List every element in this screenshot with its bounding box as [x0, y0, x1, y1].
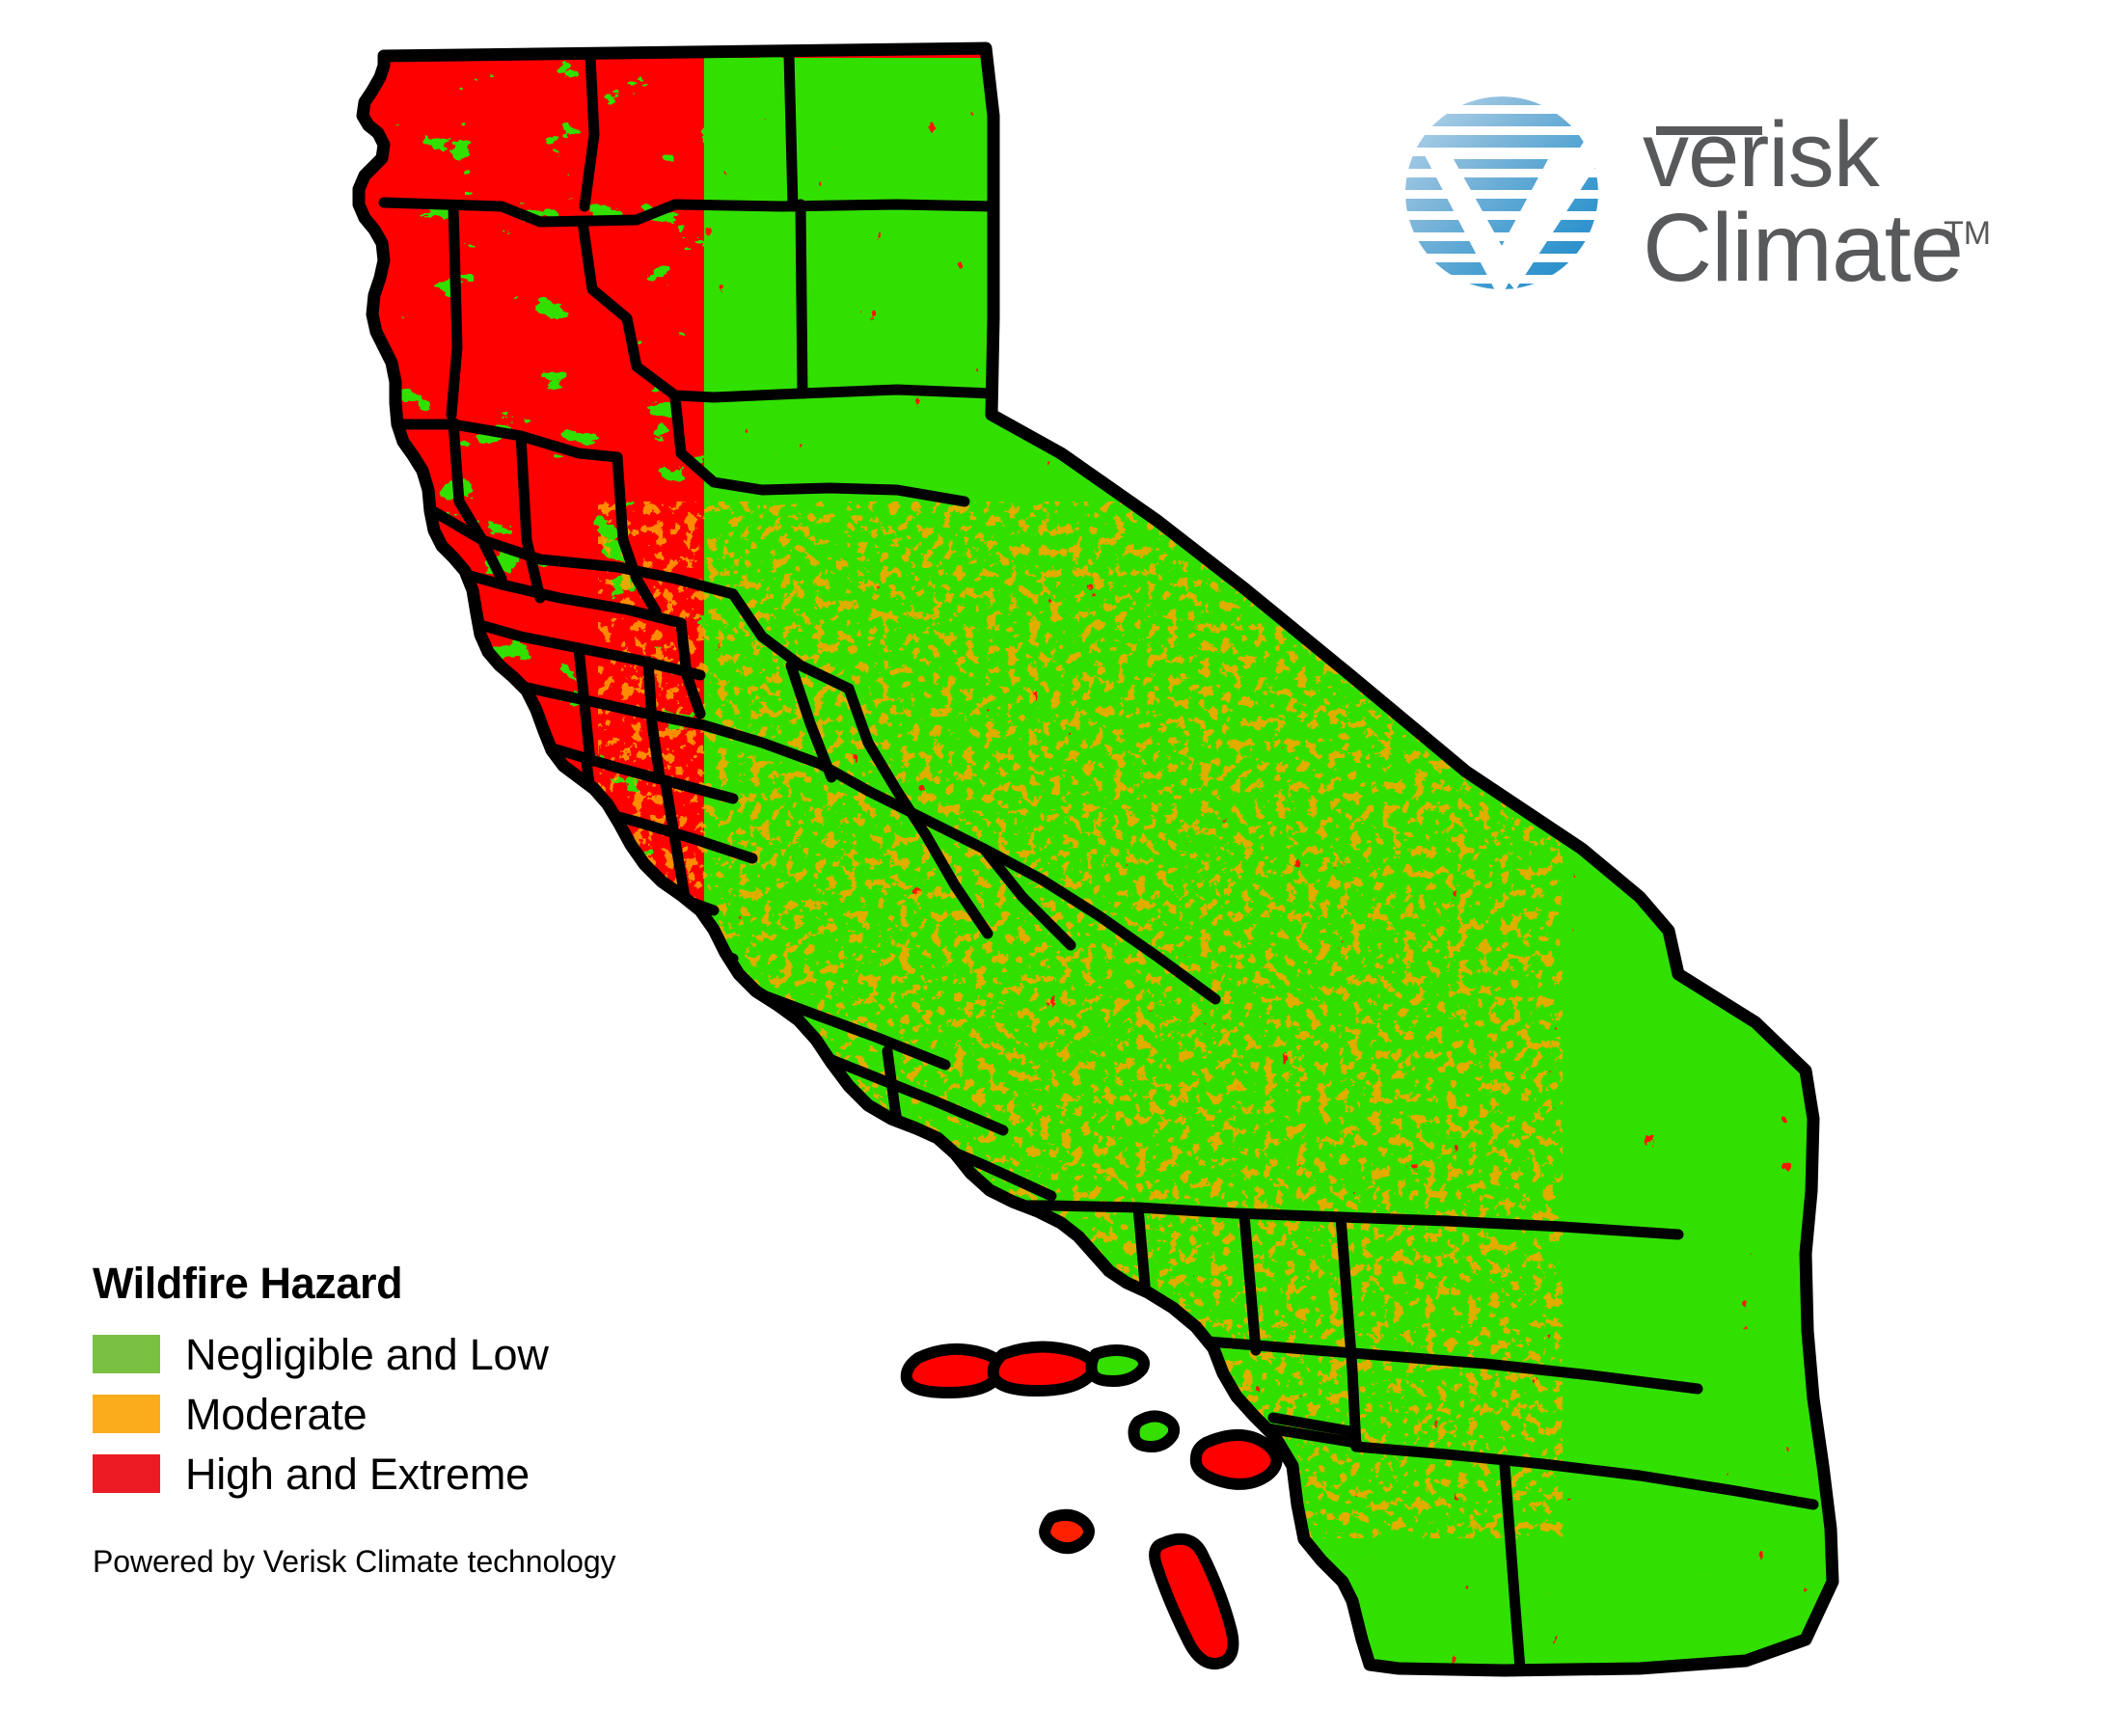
logo-wordmark-line1: verisk [1643, 103, 1881, 206]
trademark-symbol: TM [1944, 215, 1991, 252]
legend-item-high-extreme: High and Extreme [93, 1446, 768, 1502]
legend-item-moderate: Moderate [93, 1386, 768, 1442]
legend-label-moderate: Moderate [185, 1393, 367, 1436]
legend-credit-line: Powered by Verisk Climate technology [93, 1544, 768, 1580]
legend-swatch-high-extreme [93, 1454, 160, 1493]
verisk-climate-logo: verisk Climate TM [1403, 92, 2040, 299]
legend-label-high-extreme: High and Extreme [185, 1452, 530, 1496]
verisk-climate-wordmark: verisk Climate TM [1643, 103, 1991, 299]
map-legend: Wildfire Hazard Negligible and Low Moder… [93, 1261, 768, 1580]
logo-wordmark-line2: Climate [1643, 194, 1963, 299]
legend-title: Wildfire Hazard [93, 1261, 768, 1305]
legend-swatch-moderate [93, 1395, 160, 1433]
legend-label-negligible-low: Negligible and Low [185, 1333, 549, 1376]
channel-islands [907, 1346, 1277, 1664]
globe-icon [1403, 92, 1616, 298]
legend-swatch-negligible-low [93, 1335, 160, 1373]
legend-item-negligible-low: Negligible and Low [93, 1326, 768, 1382]
